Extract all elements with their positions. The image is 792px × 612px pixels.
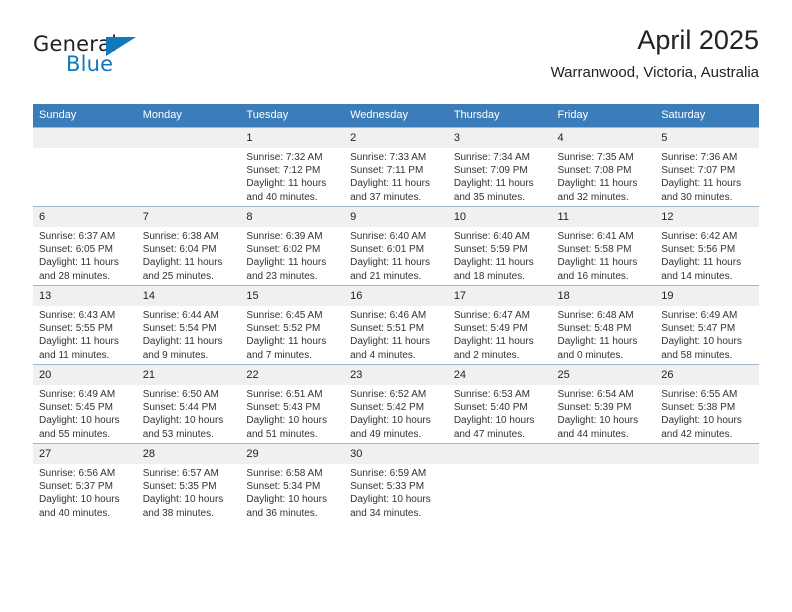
daylight-text: Daylight: 11 hours (661, 256, 753, 269)
sunset-text: Sunset: 5:47 PM (661, 322, 753, 335)
daylight-text-cont: and 21 minutes. (350, 270, 442, 283)
daylight-text-cont: and 14 minutes. (661, 270, 753, 283)
daylight-text-cont: and 49 minutes. (350, 428, 442, 441)
day-details: Sunrise: 6:38 AMSunset: 6:04 PMDaylight:… (137, 227, 241, 283)
sunset-text: Sunset: 5:52 PM (246, 322, 338, 335)
daylight-text: Daylight: 10 hours (143, 493, 235, 506)
sunset-text: Sunset: 6:01 PM (350, 243, 442, 256)
daylight-text-cont: and 55 minutes. (39, 428, 131, 441)
daylight-text-cont: and 23 minutes. (246, 270, 338, 283)
daylight-text: Daylight: 11 hours (350, 256, 442, 269)
day-number (137, 128, 241, 148)
day-details: Sunrise: 6:50 AMSunset: 5:44 PMDaylight:… (137, 385, 241, 441)
weekday-header-friday: Friday (552, 104, 656, 128)
weekday-header-monday: Monday (137, 104, 241, 128)
sunrise-text: Sunrise: 7:32 AM (246, 151, 338, 164)
daylight-text: Daylight: 10 hours (143, 414, 235, 427)
daylight-text-cont: and 9 minutes. (143, 349, 235, 362)
day-number: 2 (344, 128, 448, 148)
calendar-week-row: 27Sunrise: 6:56 AMSunset: 5:37 PMDayligh… (33, 444, 759, 523)
daylight-text-cont: and 32 minutes. (558, 191, 650, 204)
day-details: Sunrise: 7:36 AMSunset: 7:07 PMDaylight:… (655, 148, 759, 204)
sunrise-text: Sunrise: 6:42 AM (661, 230, 753, 243)
daylight-text-cont: and 11 minutes. (39, 349, 131, 362)
sunset-text: Sunset: 6:05 PM (39, 243, 131, 256)
calendar-day-cell-empty (33, 128, 137, 207)
sunset-text: Sunset: 5:42 PM (350, 401, 442, 414)
sunrise-text: Sunrise: 6:43 AM (39, 309, 131, 322)
daylight-text: Daylight: 11 hours (350, 177, 442, 190)
daylight-text: Daylight: 11 hours (558, 177, 650, 190)
day-number: 10 (448, 207, 552, 227)
daylight-text: Daylight: 11 hours (39, 256, 131, 269)
sunset-text: Sunset: 5:54 PM (143, 322, 235, 335)
calendar-day-cell[interactable]: 13Sunrise: 6:43 AMSunset: 5:55 PMDayligh… (33, 286, 137, 365)
calendar-week-row: 13Sunrise: 6:43 AMSunset: 5:55 PMDayligh… (33, 286, 759, 365)
daylight-text-cont: and 2 minutes. (454, 349, 546, 362)
day-number: 18 (552, 286, 656, 306)
day-number: 27 (33, 444, 137, 464)
calendar-day-cell[interactable]: 8Sunrise: 6:39 AMSunset: 6:02 PMDaylight… (240, 207, 344, 286)
sunset-text: Sunset: 5:35 PM (143, 480, 235, 493)
daylight-text: Daylight: 10 hours (661, 335, 753, 348)
calendar-day-cell[interactable]: 7Sunrise: 6:38 AMSunset: 6:04 PMDaylight… (137, 207, 241, 286)
calendar-day-cell-empty (448, 444, 552, 523)
day-details: Sunrise: 7:32 AMSunset: 7:12 PMDaylight:… (240, 148, 344, 204)
day-number: 20 (33, 365, 137, 385)
sunrise-text: Sunrise: 6:46 AM (350, 309, 442, 322)
daylight-text-cont: and 38 minutes. (143, 507, 235, 520)
day-number: 11 (552, 207, 656, 227)
day-details: Sunrise: 6:49 AMSunset: 5:47 PMDaylight:… (655, 306, 759, 362)
calendar-day-cell[interactable]: 30Sunrise: 6:59 AMSunset: 5:33 PMDayligh… (344, 444, 448, 523)
calendar-day-cell[interactable]: 22Sunrise: 6:51 AMSunset: 5:43 PMDayligh… (240, 365, 344, 444)
sunrise-text: Sunrise: 6:37 AM (39, 230, 131, 243)
sunrise-text: Sunrise: 6:47 AM (454, 309, 546, 322)
daylight-text-cont: and 28 minutes. (39, 270, 131, 283)
page-header: General Blue April 2025 Warranwood, Vict… (33, 24, 759, 96)
sunset-text: Sunset: 7:11 PM (350, 164, 442, 177)
page-title: April 2025 (551, 24, 759, 56)
sunrise-text: Sunrise: 7:34 AM (454, 151, 546, 164)
calendar-day-cell[interactable]: 4Sunrise: 7:35 AMSunset: 7:08 PMDaylight… (552, 128, 656, 207)
sunrise-text: Sunrise: 6:52 AM (350, 388, 442, 401)
sunrise-text: Sunrise: 6:40 AM (350, 230, 442, 243)
daylight-text: Daylight: 11 hours (350, 335, 442, 348)
daylight-text: Daylight: 11 hours (558, 256, 650, 269)
day-details: Sunrise: 6:43 AMSunset: 5:55 PMDaylight:… (33, 306, 137, 362)
daylight-text-cont: and 37 minutes. (350, 191, 442, 204)
weekday-header-tuesday: Tuesday (240, 104, 344, 128)
daylight-text: Daylight: 11 hours (454, 256, 546, 269)
day-number: 22 (240, 365, 344, 385)
sunrise-text: Sunrise: 6:58 AM (246, 467, 338, 480)
sunset-text: Sunset: 5:56 PM (661, 243, 753, 256)
sunrise-text: Sunrise: 6:38 AM (143, 230, 235, 243)
calendar-day-cell[interactable]: 9Sunrise: 6:40 AMSunset: 6:01 PMDaylight… (344, 207, 448, 286)
calendar-day-cell[interactable]: 18Sunrise: 6:48 AMSunset: 5:48 PMDayligh… (552, 286, 656, 365)
daylight-text: Daylight: 10 hours (246, 493, 338, 506)
calendar-page: General Blue April 2025 Warranwood, Vict… (0, 0, 792, 612)
day-number: 29 (240, 444, 344, 464)
weekday-header-sunday: Sunday (33, 104, 137, 128)
calendar-day-cell[interactable]: 14Sunrise: 6:44 AMSunset: 5:54 PMDayligh… (137, 286, 241, 365)
daylight-text-cont: and 47 minutes. (454, 428, 546, 441)
calendar-day-cell-empty (137, 128, 241, 207)
sunset-text: Sunset: 5:43 PM (246, 401, 338, 414)
day-details: Sunrise: 6:59 AMSunset: 5:33 PMDaylight:… (344, 464, 448, 520)
daylight-text-cont: and 0 minutes. (558, 349, 650, 362)
sunset-text: Sunset: 5:37 PM (39, 480, 131, 493)
daylight-text-cont: and 16 minutes. (558, 270, 650, 283)
day-details: Sunrise: 6:57 AMSunset: 5:35 PMDaylight:… (137, 464, 241, 520)
day-details: Sunrise: 6:41 AMSunset: 5:58 PMDaylight:… (552, 227, 656, 283)
sunrise-text: Sunrise: 6:49 AM (661, 309, 753, 322)
sunrise-text: Sunrise: 6:53 AM (454, 388, 546, 401)
day-number: 19 (655, 286, 759, 306)
daylight-text: Daylight: 11 hours (558, 335, 650, 348)
day-number: 9 (344, 207, 448, 227)
daylight-text: Daylight: 10 hours (558, 414, 650, 427)
calendar-day-cell[interactable]: 21Sunrise: 6:50 AMSunset: 5:44 PMDayligh… (137, 365, 241, 444)
daylight-text: Daylight: 10 hours (39, 414, 131, 427)
calendar-day-cell[interactable]: 3Sunrise: 7:34 AMSunset: 7:09 PMDaylight… (448, 128, 552, 207)
day-details: Sunrise: 6:46 AMSunset: 5:51 PMDaylight:… (344, 306, 448, 362)
calendar-week-row: 6Sunrise: 6:37 AMSunset: 6:05 PMDaylight… (33, 207, 759, 286)
day-number: 26 (655, 365, 759, 385)
sunrise-text: Sunrise: 6:56 AM (39, 467, 131, 480)
sunrise-text: Sunrise: 6:39 AM (246, 230, 338, 243)
calendar-day-cell[interactable]: 11Sunrise: 6:41 AMSunset: 5:58 PMDayligh… (552, 207, 656, 286)
sunset-text: Sunset: 5:44 PM (143, 401, 235, 414)
day-number (33, 128, 137, 148)
daylight-text-cont: and 7 minutes. (246, 349, 338, 362)
daylight-text-cont: and 36 minutes. (246, 507, 338, 520)
sunset-text: Sunset: 5:33 PM (350, 480, 442, 493)
weekday-header-saturday: Saturday (655, 104, 759, 128)
day-details: Sunrise: 6:55 AMSunset: 5:38 PMDaylight:… (655, 385, 759, 441)
daylight-text: Daylight: 11 hours (246, 256, 338, 269)
day-number: 12 (655, 207, 759, 227)
sunrise-text: Sunrise: 6:48 AM (558, 309, 650, 322)
day-details: Sunrise: 7:33 AMSunset: 7:11 PMDaylight:… (344, 148, 448, 204)
daylight-text-cont: and 53 minutes. (143, 428, 235, 441)
daylight-text-cont: and 58 minutes. (661, 349, 753, 362)
sunset-text: Sunset: 5:34 PM (246, 480, 338, 493)
daylight-text: Daylight: 11 hours (454, 335, 546, 348)
day-details: Sunrise: 6:37 AMSunset: 6:05 PMDaylight:… (33, 227, 137, 283)
day-details: Sunrise: 6:53 AMSunset: 5:40 PMDaylight:… (448, 385, 552, 441)
daylight-text-cont: and 51 minutes. (246, 428, 338, 441)
day-number (655, 444, 759, 464)
daylight-text: Daylight: 11 hours (143, 256, 235, 269)
calendar-day-cell[interactable]: 27Sunrise: 6:56 AMSunset: 5:37 PMDayligh… (33, 444, 137, 523)
day-details: Sunrise: 6:51 AMSunset: 5:43 PMDaylight:… (240, 385, 344, 441)
calendar-day-cell[interactable]: 26Sunrise: 6:55 AMSunset: 5:38 PMDayligh… (655, 365, 759, 444)
day-details: Sunrise: 6:42 AMSunset: 5:56 PMDaylight:… (655, 227, 759, 283)
calendar-day-cell[interactable]: 5Sunrise: 7:36 AMSunset: 7:07 PMDaylight… (655, 128, 759, 207)
day-details: Sunrise: 6:44 AMSunset: 5:54 PMDaylight:… (137, 306, 241, 362)
calendar-day-cell[interactable]: 12Sunrise: 6:42 AMSunset: 5:56 PMDayligh… (655, 207, 759, 286)
daylight-text-cont: and 4 minutes. (350, 349, 442, 362)
calendar-day-cell[interactable]: 24Sunrise: 6:53 AMSunset: 5:40 PMDayligh… (448, 365, 552, 444)
calendar-day-cell[interactable]: 16Sunrise: 6:46 AMSunset: 5:51 PMDayligh… (344, 286, 448, 365)
day-details: Sunrise: 6:48 AMSunset: 5:48 PMDaylight:… (552, 306, 656, 362)
day-number: 5 (655, 128, 759, 148)
calendar-grid: Sunday Monday Tuesday Wednesday Thursday… (33, 104, 759, 522)
day-details: Sunrise: 6:47 AMSunset: 5:49 PMDaylight:… (448, 306, 552, 362)
calendar-day-cell[interactable]: 2Sunrise: 7:33 AMSunset: 7:11 PMDaylight… (344, 128, 448, 207)
brand-logo[interactable]: General Blue (33, 32, 163, 80)
day-number: 15 (240, 286, 344, 306)
calendar-day-cell[interactable]: 6Sunrise: 6:37 AMSunset: 6:05 PMDaylight… (33, 207, 137, 286)
sunrise-text: Sunrise: 6:55 AM (661, 388, 753, 401)
sunset-text: Sunset: 5:48 PM (558, 322, 650, 335)
sunrise-text: Sunrise: 6:41 AM (558, 230, 650, 243)
daylight-text: Daylight: 11 hours (143, 335, 235, 348)
day-number: 3 (448, 128, 552, 148)
daylight-text: Daylight: 11 hours (39, 335, 131, 348)
daylight-text-cont: and 40 minutes. (39, 507, 131, 520)
daylight-text-cont: and 35 minutes. (454, 191, 546, 204)
sunset-text: Sunset: 5:59 PM (454, 243, 546, 256)
day-number: 7 (137, 207, 241, 227)
day-number: 1 (240, 128, 344, 148)
calendar-day-cell[interactable]: 23Sunrise: 6:52 AMSunset: 5:42 PMDayligh… (344, 365, 448, 444)
calendar-week-row: 20Sunrise: 6:49 AMSunset: 5:45 PMDayligh… (33, 365, 759, 444)
sunset-text: Sunset: 5:55 PM (39, 322, 131, 335)
day-details: Sunrise: 7:34 AMSunset: 7:09 PMDaylight:… (448, 148, 552, 204)
calendar-week-row: 1Sunrise: 7:32 AMSunset: 7:12 PMDaylight… (33, 128, 759, 207)
day-number (552, 444, 656, 464)
sunrise-text: Sunrise: 7:33 AM (350, 151, 442, 164)
daylight-text-cont: and 25 minutes. (143, 270, 235, 283)
weekday-header-thursday: Thursday (448, 104, 552, 128)
sunset-text: Sunset: 5:51 PM (350, 322, 442, 335)
calendar-day-cell[interactable]: 29Sunrise: 6:58 AMSunset: 5:34 PMDayligh… (240, 444, 344, 523)
daylight-text: Daylight: 11 hours (454, 177, 546, 190)
daylight-text-cont: and 40 minutes. (246, 191, 338, 204)
sunrise-text: Sunrise: 6:50 AM (143, 388, 235, 401)
title-block: April 2025 Warranwood, Victoria, Austral… (551, 24, 759, 83)
daylight-text-cont: and 44 minutes. (558, 428, 650, 441)
daylight-text: Daylight: 11 hours (246, 177, 338, 190)
sunrise-text: Sunrise: 6:45 AM (246, 309, 338, 322)
daylight-text-cont: and 34 minutes. (350, 507, 442, 520)
day-number (448, 444, 552, 464)
calendar-day-cell-empty (655, 444, 759, 523)
daylight-text: Daylight: 11 hours (246, 335, 338, 348)
calendar-day-cell-empty (552, 444, 656, 523)
day-number: 21 (137, 365, 241, 385)
sunrise-text: Sunrise: 6:44 AM (143, 309, 235, 322)
sunset-text: Sunset: 5:49 PM (454, 322, 546, 335)
day-details: Sunrise: 6:58 AMSunset: 5:34 PMDaylight:… (240, 464, 344, 520)
day-number: 13 (33, 286, 137, 306)
daylight-text: Daylight: 10 hours (39, 493, 131, 506)
day-number: 8 (240, 207, 344, 227)
sunrise-text: Sunrise: 6:49 AM (39, 388, 131, 401)
day-number: 30 (344, 444, 448, 464)
calendar-day-cell[interactable]: 1Sunrise: 7:32 AMSunset: 7:12 PMDaylight… (240, 128, 344, 207)
day-number: 16 (344, 286, 448, 306)
sunset-text: Sunset: 5:45 PM (39, 401, 131, 414)
daylight-text-cont: and 30 minutes. (661, 191, 753, 204)
day-details: Sunrise: 6:54 AMSunset: 5:39 PMDaylight:… (552, 385, 656, 441)
brand-name-bottom: Blue (66, 52, 113, 76)
day-details: Sunrise: 6:56 AMSunset: 5:37 PMDaylight:… (33, 464, 137, 520)
daylight-text: Daylight: 10 hours (246, 414, 338, 427)
calendar-day-cell[interactable]: 17Sunrise: 6:47 AMSunset: 5:49 PMDayligh… (448, 286, 552, 365)
sunrise-text: Sunrise: 6:40 AM (454, 230, 546, 243)
day-number: 28 (137, 444, 241, 464)
calendar-day-cell[interactable]: 19Sunrise: 6:49 AMSunset: 5:47 PMDayligh… (655, 286, 759, 365)
day-number: 17 (448, 286, 552, 306)
sunrise-text: Sunrise: 6:57 AM (143, 467, 235, 480)
daylight-text: Daylight: 11 hours (661, 177, 753, 190)
day-number: 14 (137, 286, 241, 306)
calendar-body: 1Sunrise: 7:32 AMSunset: 7:12 PMDaylight… (33, 128, 759, 523)
sunrise-text: Sunrise: 6:54 AM (558, 388, 650, 401)
daylight-text: Daylight: 10 hours (661, 414, 753, 427)
sunrise-text: Sunrise: 7:35 AM (558, 151, 650, 164)
sunset-text: Sunset: 7:12 PM (246, 164, 338, 177)
sunrise-text: Sunrise: 6:51 AM (246, 388, 338, 401)
day-details: Sunrise: 6:49 AMSunset: 5:45 PMDaylight:… (33, 385, 137, 441)
weekday-header-row: Sunday Monday Tuesday Wednesday Thursday… (33, 104, 759, 128)
day-number: 6 (33, 207, 137, 227)
day-number: 25 (552, 365, 656, 385)
sunset-text: Sunset: 6:04 PM (143, 243, 235, 256)
weekday-header-wednesday: Wednesday (344, 104, 448, 128)
day-details: Sunrise: 6:45 AMSunset: 5:52 PMDaylight:… (240, 306, 344, 362)
day-details: Sunrise: 6:40 AMSunset: 6:01 PMDaylight:… (344, 227, 448, 283)
sunset-text: Sunset: 5:38 PM (661, 401, 753, 414)
daylight-text: Daylight: 10 hours (350, 493, 442, 506)
day-details: Sunrise: 7:35 AMSunset: 7:08 PMDaylight:… (552, 148, 656, 204)
daylight-text-cont: and 18 minutes. (454, 270, 546, 283)
sunrise-text: Sunrise: 7:36 AM (661, 151, 753, 164)
page-subtitle: Warranwood, Victoria, Australia (551, 63, 759, 83)
day-number: 24 (448, 365, 552, 385)
day-number: 23 (344, 365, 448, 385)
sunset-text: Sunset: 7:09 PM (454, 164, 546, 177)
calendar-day-cell[interactable]: 10Sunrise: 6:40 AMSunset: 5:59 PMDayligh… (448, 207, 552, 286)
sunset-text: Sunset: 7:08 PM (558, 164, 650, 177)
day-details: Sunrise: 6:40 AMSunset: 5:59 PMDaylight:… (448, 227, 552, 283)
daylight-text-cont: and 42 minutes. (661, 428, 753, 441)
day-number: 4 (552, 128, 656, 148)
day-details: Sunrise: 6:39 AMSunset: 6:02 PMDaylight:… (240, 227, 344, 283)
sunrise-text: Sunrise: 6:59 AM (350, 467, 442, 480)
sunset-text: Sunset: 6:02 PM (246, 243, 338, 256)
calendar-day-cell[interactable]: 28Sunrise: 6:57 AMSunset: 5:35 PMDayligh… (137, 444, 241, 523)
daylight-text: Daylight: 10 hours (350, 414, 442, 427)
daylight-text: Daylight: 10 hours (454, 414, 546, 427)
calendar-day-cell[interactable]: 15Sunrise: 6:45 AMSunset: 5:52 PMDayligh… (240, 286, 344, 365)
calendar-day-cell[interactable]: 20Sunrise: 6:49 AMSunset: 5:45 PMDayligh… (33, 365, 137, 444)
sunset-text: Sunset: 5:40 PM (454, 401, 546, 414)
sunset-text: Sunset: 7:07 PM (661, 164, 753, 177)
day-details: Sunrise: 6:52 AMSunset: 5:42 PMDaylight:… (344, 385, 448, 441)
sunset-text: Sunset: 5:58 PM (558, 243, 650, 256)
calendar-day-cell[interactable]: 25Sunrise: 6:54 AMSunset: 5:39 PMDayligh… (552, 365, 656, 444)
sunset-text: Sunset: 5:39 PM (558, 401, 650, 414)
